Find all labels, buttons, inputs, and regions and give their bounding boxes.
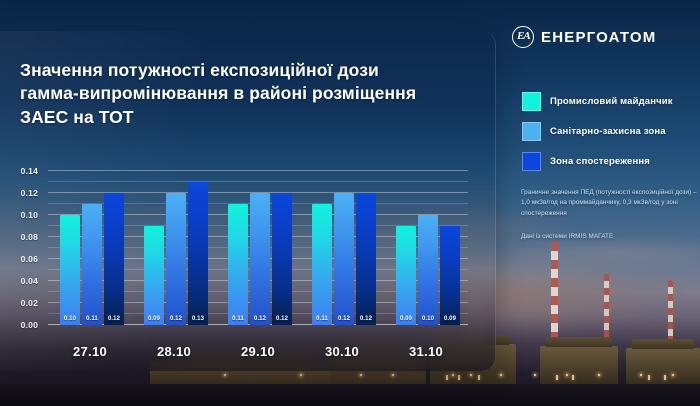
legend-item-1[interactable]: Санітарно-захисна зона	[522, 122, 673, 141]
bar-value-label: 0.12	[356, 316, 376, 322]
bar[interactable]: 0.12	[166, 193, 186, 325]
legend-item-2[interactable]: Зона спостереження	[522, 152, 673, 171]
bar[interactable]: 0.11	[312, 204, 332, 325]
logo-monogram: ЕА	[517, 31, 530, 42]
bar-group: 0.090.120.13	[132, 165, 216, 325]
infographic-root: Значення потужності експозиційної дози г…	[0, 0, 700, 406]
y-tick-label: 0.08	[21, 232, 38, 242]
brand-name: ЕНЕРГОАТОМ	[541, 29, 656, 46]
bar-chart: 0.000.020.040.060.080.100.120.14 0.100.1…	[0, 159, 476, 365]
y-tick-label: 0.00	[21, 320, 38, 330]
bar-value-label: 0.13	[188, 316, 208, 322]
footnote-limit: Граничне значення ПЕД (потужності експоз…	[521, 188, 697, 219]
bar-value-label: 0.12	[272, 316, 292, 322]
x-tick-label: 28.10	[132, 344, 216, 359]
footnote-source: Дані із системи IRMIS МАГАТЕ	[521, 232, 697, 242]
bar-value-label: 0.11	[312, 316, 332, 322]
bar-value-label: 0.12	[250, 316, 270, 322]
legend-label: Санітарно-захисна зона	[550, 126, 666, 137]
y-tick-label: 0.02	[21, 298, 38, 308]
bar-value-label: 0.11	[82, 316, 102, 322]
bar[interactable]: 0.09	[144, 226, 164, 325]
bar-value-label: 0.12	[334, 316, 354, 322]
bar[interactable]: 0.12	[334, 193, 354, 325]
x-tick-label: 27.10	[48, 344, 132, 359]
footnotes: Граничне значення ПЕД (потужності експоз…	[521, 188, 697, 243]
bar-group: 0.110.120.12	[300, 165, 384, 325]
bar-value-label: 0.10	[418, 316, 438, 322]
bars-container: 0.100.110.120.090.120.130.110.120.120.11…	[48, 165, 468, 325]
bar-value-label: 0.12	[104, 316, 124, 322]
legend-swatch-icon	[522, 92, 541, 111]
legend-item-0[interactable]: Промисловий майданчик	[522, 92, 673, 111]
bar-value-label: 0.12	[166, 316, 186, 322]
x-tick-label: 29.10	[216, 344, 300, 359]
legend-label: Промисловий майданчик	[550, 96, 673, 107]
bar[interactable]: 0.09	[396, 226, 416, 325]
x-tick-label: 31.10	[384, 344, 468, 359]
x-tick-label: 30.10	[300, 344, 384, 359]
chart-legend: Промисловий майданчикСанітарно-захисна з…	[522, 92, 673, 182]
bar-group: 0.110.120.12	[216, 165, 300, 325]
bar-value-label: 0.11	[228, 316, 248, 322]
bar[interactable]: 0.13	[188, 182, 208, 325]
y-tick-label: 0.04	[21, 276, 38, 286]
bar-value-label: 0.09	[144, 316, 164, 322]
legend-swatch-icon	[522, 152, 541, 171]
y-axis-labels: 0.000.020.040.060.080.100.120.14	[0, 165, 44, 325]
bar[interactable]: 0.10	[418, 215, 438, 325]
plot-area: 0.100.110.120.090.120.130.110.120.120.11…	[48, 165, 468, 325]
foreground-ground	[0, 384, 700, 406]
bar[interactable]: 0.12	[104, 193, 124, 325]
y-tick-label: 0.10	[21, 210, 38, 220]
content-panel: Значення потужності експозиційної дози г…	[0, 31, 496, 371]
bar[interactable]: 0.10	[60, 215, 80, 325]
y-tick-label: 0.06	[21, 254, 38, 264]
bar-value-label: 0.09	[440, 316, 460, 322]
bar[interactable]: 0.12	[356, 193, 376, 325]
page-title: Значення потужності експозиційної дози г…	[20, 59, 440, 129]
bar[interactable]: 0.11	[228, 204, 248, 325]
plant-lights	[0, 374, 700, 386]
energoatom-circle-logo-icon: ЕА	[512, 26, 534, 48]
brand-logo: ЕА ЕНЕРГОАТОМ	[512, 26, 656, 48]
bar-group: 0.090.100.09	[384, 165, 468, 325]
legend-label: Зона спостереження	[550, 156, 650, 167]
legend-swatch-icon	[522, 122, 541, 141]
x-axis-labels: 27.1028.1029.1030.1031.10	[48, 333, 468, 359]
bar[interactable]: 0.12	[272, 193, 292, 325]
bar-value-label: 0.10	[60, 316, 80, 322]
y-tick-label: 0.12	[21, 188, 38, 198]
bar[interactable]: 0.12	[250, 193, 270, 325]
bar-group: 0.100.110.12	[48, 165, 132, 325]
bar-value-label: 0.09	[396, 316, 416, 322]
y-tick-label: 0.14	[21, 166, 38, 176]
bar[interactable]: 0.11	[82, 204, 102, 325]
bar[interactable]: 0.09	[440, 226, 460, 325]
